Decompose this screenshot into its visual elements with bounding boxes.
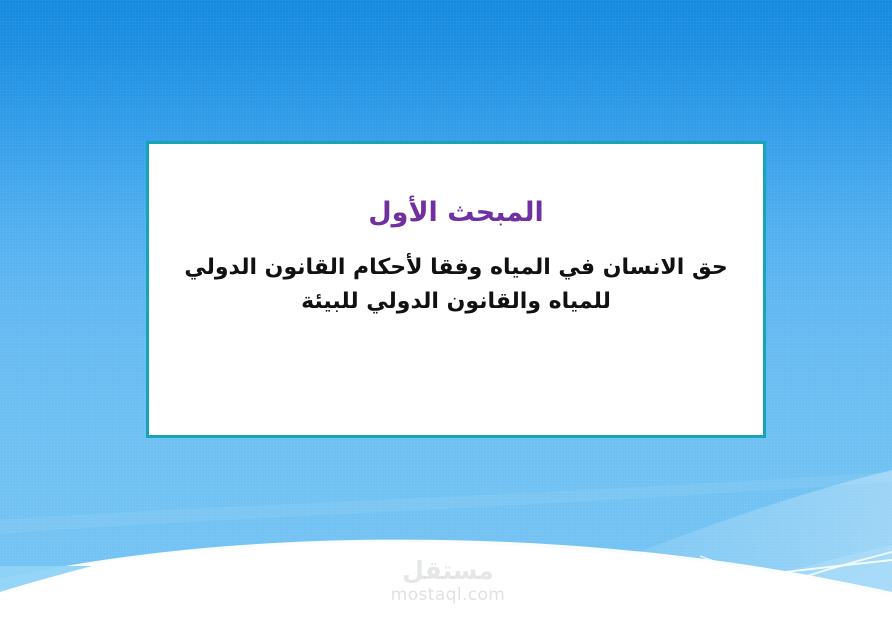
content-card: المبحث الأول حق الانسان في المياه وفقا ل…	[146, 141, 766, 438]
slide-canvas: المبحث الأول حق الانسان في المياه وفقا ل…	[0, 0, 892, 631]
card-body-line-2: للمياه والقانون الدولي للبيئة	[178, 285, 734, 319]
card-title: المبحث الأول	[368, 197, 544, 229]
card-body: حق الانسان في المياه وفقا لأحكام القانون…	[178, 251, 734, 319]
card-body-line-1: حق الانسان في المياه وفقا لأحكام القانون…	[178, 251, 734, 285]
